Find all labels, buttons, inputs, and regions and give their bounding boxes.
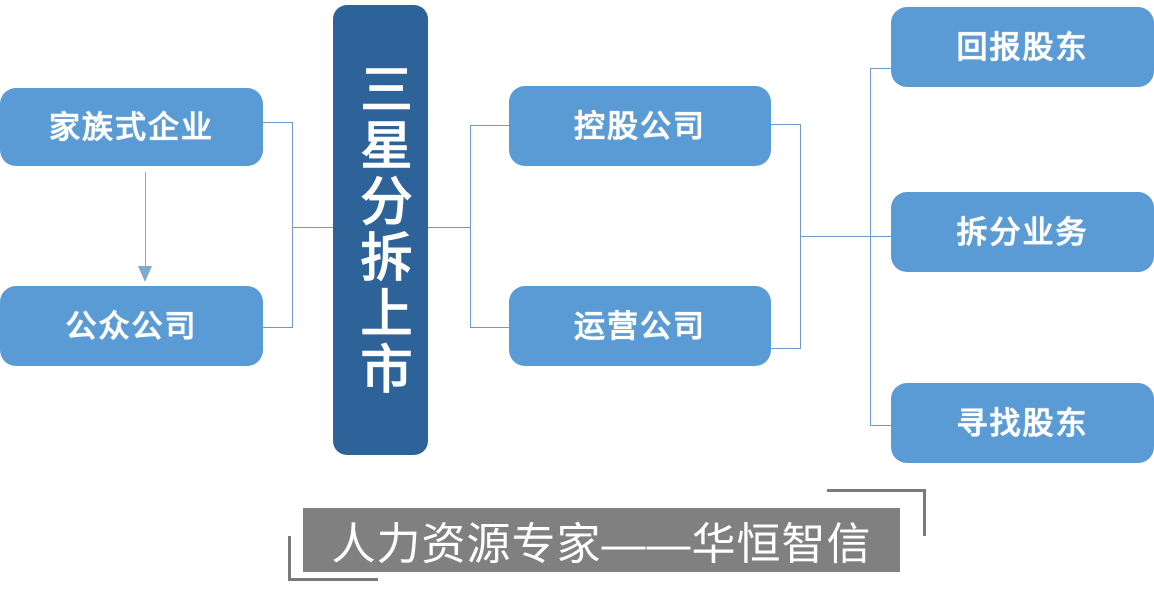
connector-public-stub <box>263 327 293 328</box>
node-seek-shareholders-label: 寻找股东 <box>957 408 1089 439</box>
connector-center-to-middle <box>428 227 471 228</box>
node-return-shareholders[interactable]: 回报股东 <box>891 7 1154 87</box>
node-holding-company-label: 控股公司 <box>574 111 706 142</box>
connector-right-fan-spine <box>870 68 871 426</box>
node-operating-company[interactable]: 运营公司 <box>509 286 771 366</box>
connector-left-spine <box>292 122 293 328</box>
node-holding-company[interactable]: 控股公司 <box>509 86 771 166</box>
node-operating-company-label: 运营公司 <box>574 311 706 342</box>
connector-middle-spine <box>470 125 471 328</box>
node-family-enterprise[interactable]: 家族式企业 <box>0 88 263 166</box>
node-split-business[interactable]: 拆分业务 <box>891 192 1154 272</box>
node-return-shareholders-label: 回报股东 <box>957 32 1089 63</box>
arrow-family-to-public-shaft <box>145 172 146 276</box>
connector-operate-stub <box>470 327 510 328</box>
center-title-bar[interactable]: 三星分拆上市 <box>333 5 428 455</box>
arrow-family-to-public-head <box>138 266 152 282</box>
center-title-bar-label: 三星分拆上市 <box>353 62 408 398</box>
caption-banner-label: 人力资源专家——华恒智信 <box>332 508 872 572</box>
connector-holding-stub <box>470 125 510 126</box>
node-family-enterprise-label: 家族式企业 <box>49 112 214 143</box>
node-public-company-label: 公众公司 <box>66 311 198 342</box>
connector-holding-out-stub <box>771 124 801 125</box>
connector-family-stub <box>263 122 293 123</box>
connector-operate-out-stub <box>771 348 801 349</box>
node-split-business-label: 拆分业务 <box>957 217 1089 248</box>
connector-gather-to-fan <box>800 236 871 237</box>
connector-left-to-center <box>292 227 334 228</box>
caption-banner: 人力资源专家——华恒智信 <box>303 508 900 572</box>
node-seek-shareholders[interactable]: 寻找股东 <box>891 383 1154 463</box>
node-public-company[interactable]: 公众公司 <box>0 286 263 366</box>
diagram-canvas: 家族式企业 公众公司 三星分拆上市 控股公司 运营公司 回报股东 拆分业务 寻找… <box>0 0 1154 593</box>
